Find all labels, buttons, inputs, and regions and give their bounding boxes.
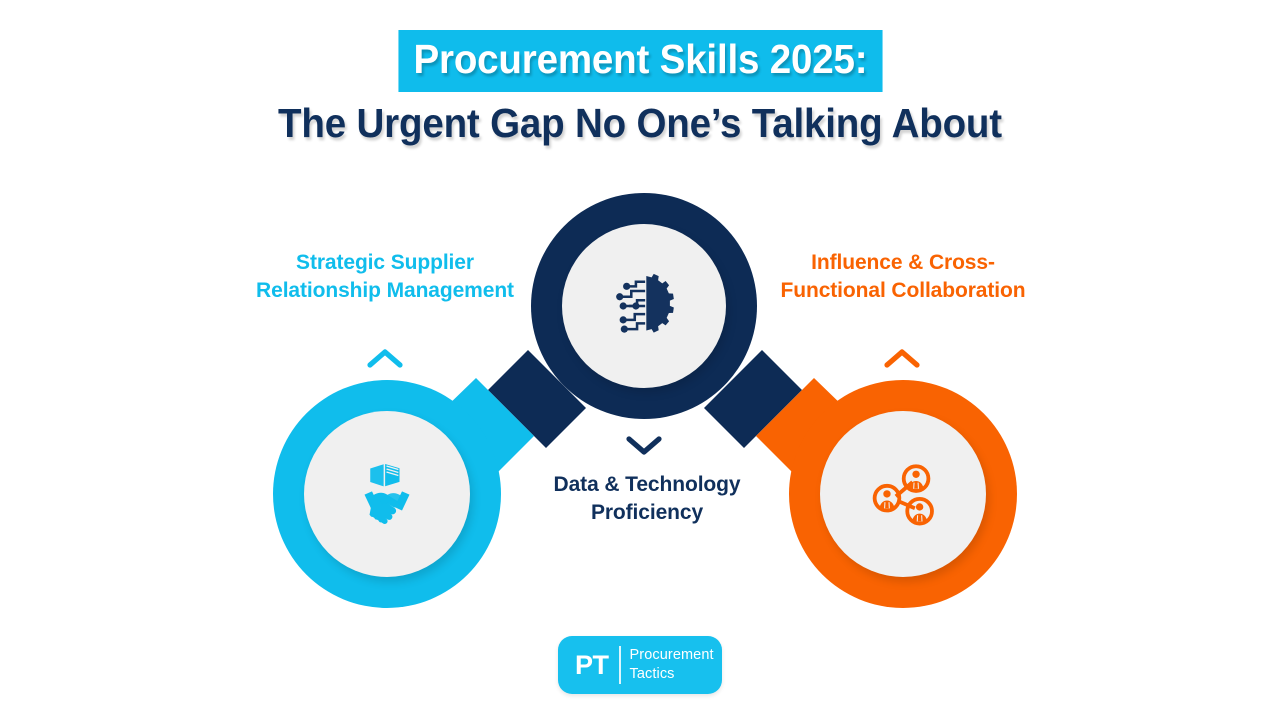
logo-divider: [619, 646, 621, 684]
title-line-2: The Urgent Gap No One’s Talking About: [38, 102, 1241, 145]
label-influence-cross-functional-collaboration: Influence & Cross-Functional Collaborati…: [770, 249, 1036, 304]
ai-circuit-gear-icon: [607, 269, 681, 343]
logo-word-line-1: Procurement: [630, 647, 714, 663]
handshake-box-icon: [347, 454, 427, 534]
logo-monogram: PT: [575, 652, 609, 679]
node-left-inner: [304, 411, 470, 577]
chevron-up-icon-left: [365, 345, 405, 371]
logo-word-line-2: Tactics: [630, 666, 675, 682]
chevron-up-icon-right: [882, 345, 922, 371]
network-people-icon: [865, 456, 941, 532]
title-line-1: Procurement Skills 2025:: [398, 30, 882, 92]
page-title: Procurement Skills 2025: The Urgent Gap …: [0, 30, 1280, 145]
chevron-down-icon-center: [624, 432, 664, 458]
node-strategic-supplier-relationship-management[interactable]: [273, 380, 501, 608]
node-center-inner: [562, 224, 726, 388]
title-line1-wrap: Procurement Skills 2025:: [0, 30, 1280, 92]
label-strategic-supplier-relationship-management: Strategic Supplier Relationship Manageme…: [252, 249, 518, 304]
brand-logo[interactable]: PT Procurement Tactics: [558, 636, 722, 694]
label-data-technology-proficiency: Data & Technology Proficiency: [514, 471, 780, 526]
node-influence-cross-functional-collaboration[interactable]: [789, 380, 1017, 608]
node-data-technology-proficiency[interactable]: [531, 193, 757, 419]
infographic-canvas: Procurement Skills 2025: The Urgent Gap …: [0, 0, 1280, 720]
logo-wordmark: Procurement Tactics: [630, 646, 714, 683]
node-right-inner: [820, 411, 986, 577]
